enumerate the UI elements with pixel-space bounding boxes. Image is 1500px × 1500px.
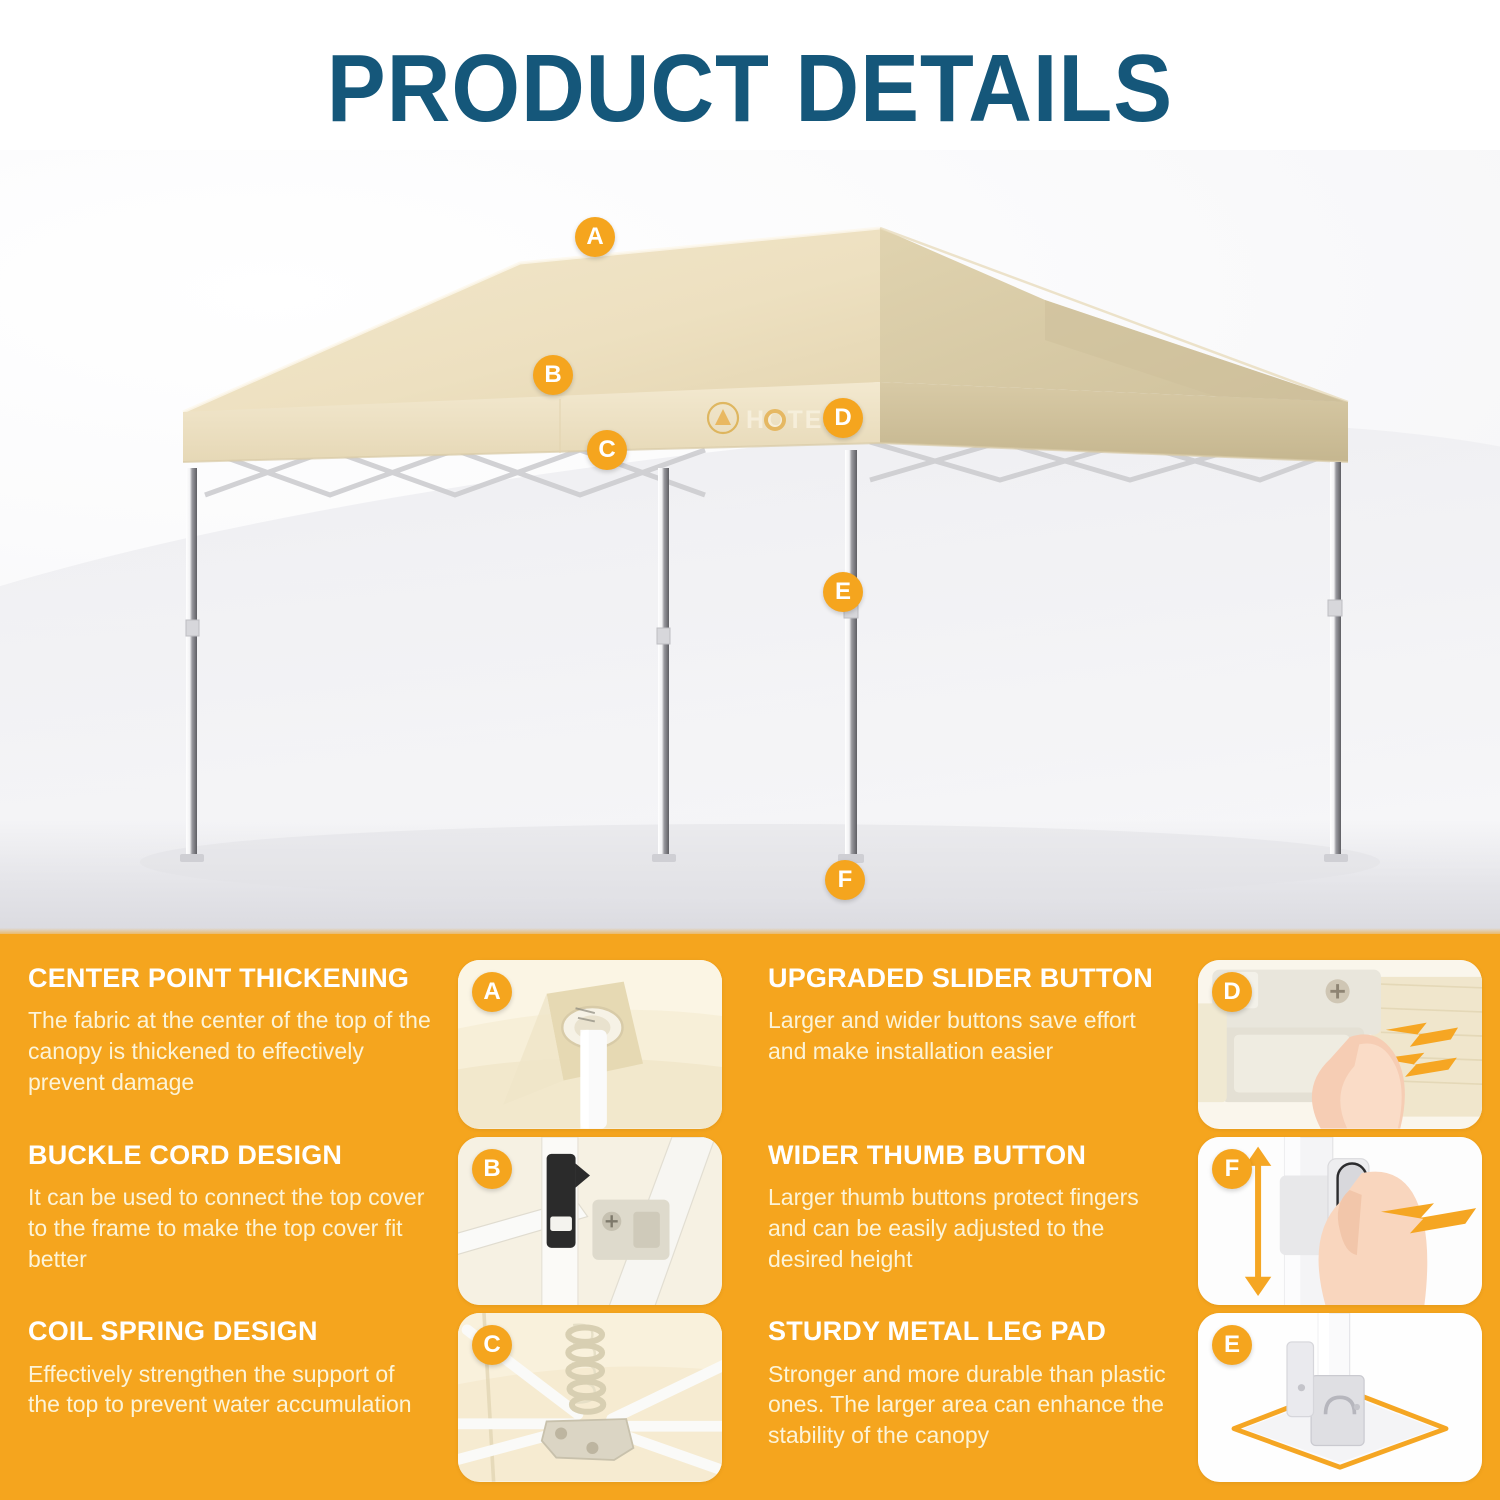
thumb-badge-a: A bbox=[472, 972, 512, 1012]
feature-body: Effectively strengthen the support of th… bbox=[28, 1359, 432, 1421]
feature-body: It can be used to connect the top cover … bbox=[28, 1182, 432, 1274]
feature-title: STURDY METAL LEG PAD bbox=[768, 1317, 1172, 1345]
feature-text-buckle-cord-design: BUCKLE CORD DESIGN It can be used to con… bbox=[0, 1133, 458, 1310]
feature-thumb-upgraded-slider-button[interactable]: D bbox=[1198, 960, 1482, 1129]
feature-thumb-buckle-cord-design[interactable]: B bbox=[458, 1137, 722, 1306]
feature-text-upgraded-slider-button: UPGRADED SLIDER BUTTON Larger and wider … bbox=[740, 956, 1198, 1133]
feature-text-sturdy-metal-leg-pad: STURDY METAL LEG PAD Stronger and more d… bbox=[740, 1309, 1198, 1486]
canopy-tent-illustration: HOTEEL bbox=[0, 150, 1500, 940]
feature-title: BUCKLE CORD DESIGN bbox=[28, 1141, 432, 1169]
hero-callout-a[interactable]: A bbox=[575, 217, 615, 257]
features-grid: CENTER POINT THICKENING The fabric at th… bbox=[0, 934, 1500, 1500]
feature-body: Stronger and more durable than plastic o… bbox=[768, 1359, 1172, 1451]
feature-thumb-coil-spring-design[interactable]: C bbox=[458, 1313, 722, 1482]
feature-thumb-wider-thumb-button[interactable]: F bbox=[1198, 1137, 1482, 1306]
feature-body: The fabric at the center of the top of t… bbox=[28, 1005, 432, 1097]
page-header: PRODUCT DETAILS bbox=[0, 34, 1500, 144]
feature-body: Larger thumb buttons protect fingers and… bbox=[768, 1182, 1172, 1274]
feature-thumb-sturdy-metal-leg-pad[interactable]: E bbox=[1198, 1313, 1482, 1482]
thumb-badge-d: D bbox=[1212, 972, 1252, 1012]
hero-callout-e[interactable]: E bbox=[823, 572, 863, 612]
feature-thumb-center-point-thickening[interactable]: A bbox=[458, 960, 722, 1129]
feature-body: Larger and wider buttons save effort and… bbox=[768, 1005, 1172, 1067]
hero-callout-f[interactable]: F bbox=[825, 860, 865, 900]
hero-callout-d[interactable]: D bbox=[823, 398, 863, 438]
features-panel: CENTER POINT THICKENING The fabric at th… bbox=[0, 934, 1500, 1500]
feature-text-center-point-thickening: CENTER POINT THICKENING The fabric at th… bbox=[0, 956, 458, 1133]
hero-callout-c[interactable]: C bbox=[587, 430, 627, 470]
thumb-badge-b: B bbox=[472, 1149, 512, 1189]
hero-callout-b[interactable]: B bbox=[533, 355, 573, 395]
feature-title: WIDER THUMB BUTTON bbox=[768, 1141, 1172, 1169]
feature-title: CENTER POINT THICKENING bbox=[28, 964, 432, 992]
feature-text-coil-spring-design: COIL SPRING DESIGN Effectively strengthe… bbox=[0, 1309, 458, 1486]
thumb-badge-f: F bbox=[1212, 1149, 1252, 1189]
page-title: PRODUCT DETAILS bbox=[327, 34, 1173, 144]
hero-product-image: HOTEEL A B C D E F bbox=[0, 150, 1500, 940]
feature-title: COIL SPRING DESIGN bbox=[28, 1317, 432, 1345]
feature-title: UPGRADED SLIDER BUTTON bbox=[768, 964, 1172, 992]
feature-text-wider-thumb-button: WIDER THUMB BUTTON Larger thumb buttons … bbox=[740, 1133, 1198, 1310]
